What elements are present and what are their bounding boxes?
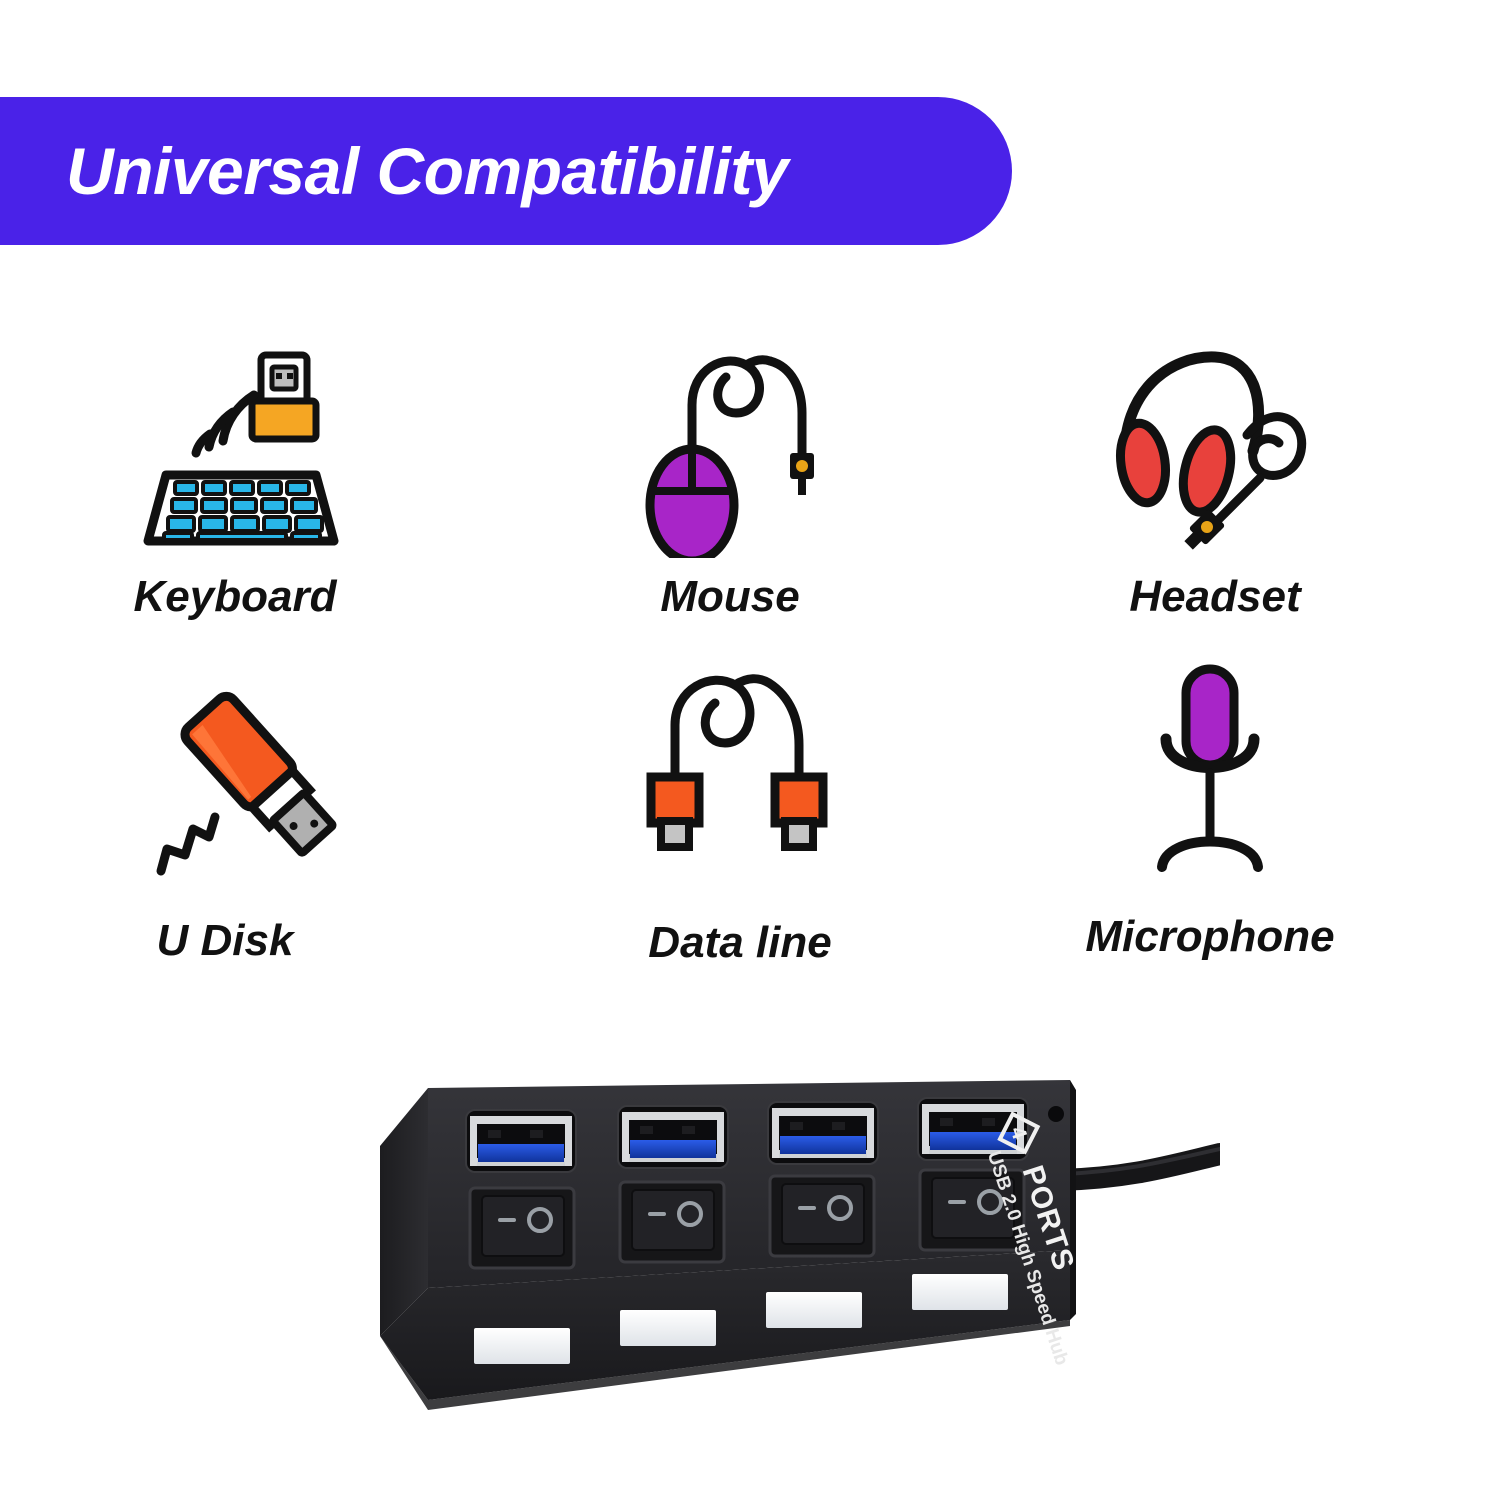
usb-flash-drive-icon — [105, 670, 345, 890]
led-indicator-1 — [474, 1328, 570, 1364]
usb-data-cable-icon — [620, 658, 860, 878]
device-item-udisk: U Disk — [15, 670, 435, 990]
device-item-keyboard: Keyboard — [25, 340, 445, 660]
device-label-keyboard: Keyboard — [134, 572, 337, 622]
device-item-microphone: Microphone — [1000, 658, 1420, 978]
device-label-headset: Headset — [1129, 572, 1300, 622]
computer-mouse-icon — [610, 340, 850, 560]
wireless-keyboard-icon — [115, 340, 355, 560]
usb-port-1[interactable] — [466, 1110, 576, 1172]
hub-cable — [1060, 1149, 1220, 1180]
microphone-icon — [1090, 658, 1330, 878]
universal-compatibility-banner: Universal Compatibility — [0, 97, 1012, 245]
device-label-mouse: Mouse — [660, 572, 799, 622]
usb-hub-product-image: 4 PORTS USB 2.0 High Speed Hub — [370, 1070, 1220, 1450]
hub-power-indicator-dot — [1048, 1106, 1064, 1122]
power-switch-3[interactable] — [770, 1176, 874, 1256]
usb-port-3[interactable] — [768, 1102, 878, 1164]
led-indicator-4 — [912, 1274, 1008, 1310]
compatibility-device-grid: Keyboard Mouse — [0, 340, 1500, 1000]
headset-icon — [1095, 340, 1335, 560]
led-indicator-3 — [766, 1292, 862, 1328]
device-item-mouse: Mouse — [520, 340, 940, 660]
power-switch-2[interactable] — [620, 1182, 724, 1262]
power-switch-1[interactable] — [470, 1188, 574, 1268]
device-label-dataline: Data line — [648, 918, 831, 968]
device-item-headset: Headset — [1005, 340, 1425, 660]
led-indicator-2 — [620, 1310, 716, 1346]
device-label-microphone: Microphone — [1085, 912, 1334, 962]
page-title: Universal Compatibility — [0, 133, 788, 209]
usb-port-2[interactable] — [618, 1106, 728, 1168]
device-label-udisk: U Disk — [157, 916, 294, 966]
device-item-dataline: Data line — [530, 658, 950, 978]
